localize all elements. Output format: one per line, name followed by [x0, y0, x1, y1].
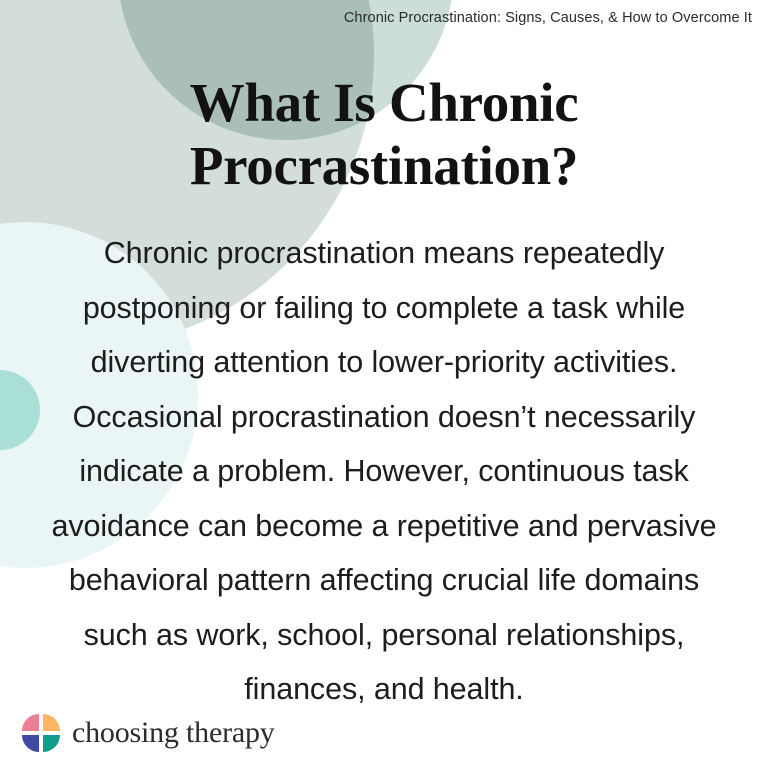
infographic-card: Chronic Procrastination: Signs, Causes, … [0, 0, 768, 768]
article-kicker: Chronic Procrastination: Signs, Causes, … [344, 10, 752, 26]
body-paragraph: Chronic procrastination means repeatedly… [44, 226, 724, 717]
mark-quadrant-top-left [22, 714, 39, 731]
card-content: Chronic Procrastination: Signs, Causes, … [0, 0, 768, 768]
mark-quadrant-top-right [43, 714, 60, 731]
page-title: What Is Chronic Procrastination? [64, 72, 704, 197]
brand-wordmark: choosing therapy [72, 716, 275, 750]
brand-logo: choosing therapy [22, 714, 275, 752]
mark-quadrant-bottom-right [43, 735, 60, 752]
mark-quadrant-bottom-left [22, 735, 39, 752]
choosing-therapy-mark-icon [22, 714, 60, 752]
